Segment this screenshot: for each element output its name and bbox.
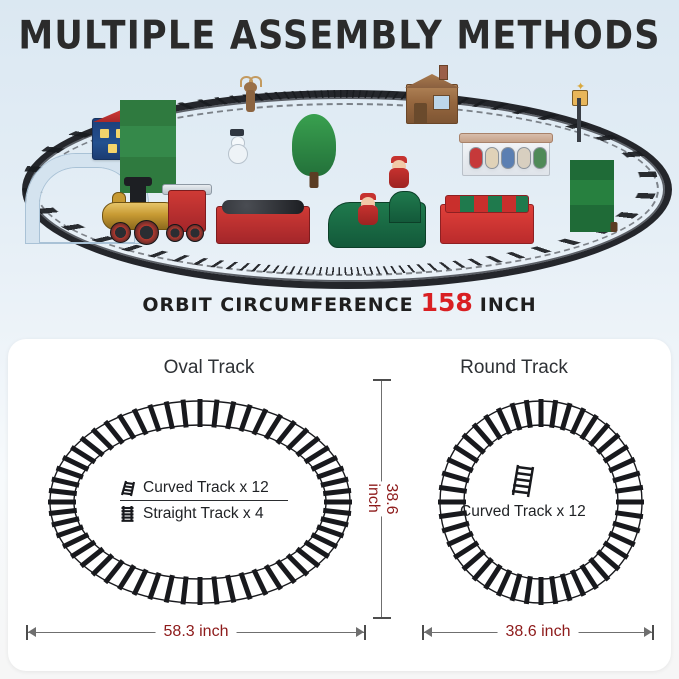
round-width-label: 38.6 inch [498, 623, 579, 641]
reindeer-icon [240, 76, 260, 116]
oval-track-title: Oval Track [44, 357, 374, 379]
snowman-icon [226, 130, 248, 164]
oval-track-legend: Curved Track x 12 Straight Track x 4 [120, 475, 288, 526]
oval-height-dimension: 38.6 inch [371, 379, 393, 619]
oval-width-label: 58.3 inch [156, 623, 237, 641]
infographic-page: MULTIPLE ASSEMBLY METHODS [0, 0, 679, 679]
straight-track-icon [120, 504, 135, 523]
round-track-title: Round Track [380, 357, 648, 379]
legend-label: Curved Track x 12 [143, 479, 269, 497]
curved-track-icon [508, 459, 538, 499]
santa-sleigh-icon [328, 202, 426, 248]
santa-figure-icon [386, 158, 412, 194]
green-tree-icon [288, 114, 340, 200]
gift-car-icon [440, 204, 534, 244]
christmas-tree-icon [592, 160, 636, 232]
orbit-label-prefix: ORBIT CIRCUMFERENCE [142, 294, 413, 316]
legend-label: Curved Track x 12 [460, 503, 586, 521]
page-title: MULTIPLE ASSEMBLY METHODS [0, 14, 679, 59]
legend-item-straight: Straight Track x 4 [120, 501, 288, 526]
orbit-value: 158 [421, 288, 473, 317]
orbit-circumference-caption: ORBIT CIRCUMFERENCE158INCH [0, 288, 679, 317]
round-track-legend: Curved Track x 12 [460, 459, 586, 521]
legend-label: Straight Track x 4 [143, 505, 264, 523]
hero-train-scene: ✦ [0, 62, 679, 277]
orbit-label-suffix: INCH [480, 294, 537, 316]
round-legend-icon-wrap [460, 459, 586, 499]
locomotive-icon [96, 180, 208, 244]
assembly-options-card: Oval Track Round Track [8, 339, 671, 671]
street-lamp-icon: ✦ [572, 88, 586, 142]
oval-height-label: 38.6 inch [361, 481, 403, 516]
oval-width-dimension: 58.3 inch [26, 625, 366, 641]
log-cabin-icon [406, 84, 458, 124]
market-stall-icon [462, 140, 550, 176]
legend-item-curved: Curved Track x 12 [120, 475, 288, 500]
curved-track-icon [120, 478, 135, 497]
coal-car-icon [216, 206, 310, 244]
round-width-dimension: 38.6 inch [422, 625, 654, 641]
